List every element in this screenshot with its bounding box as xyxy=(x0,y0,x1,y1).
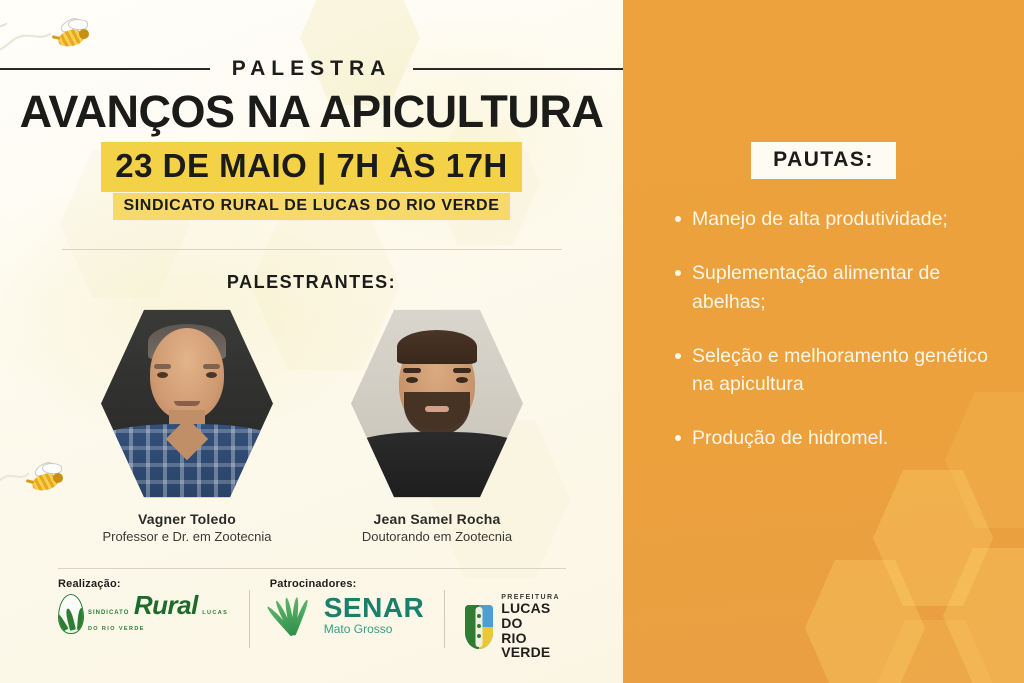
rural-leaf-mark-icon xyxy=(58,594,84,634)
organizer-group: Realização: SINDICATO Rural LUCAS DO RIO… xyxy=(58,578,229,656)
prefeitura-logo-line1: LUCAS DO xyxy=(501,601,566,630)
bee-icon-top xyxy=(48,18,96,52)
prefeitura-logo-line2: RIO VERDE xyxy=(501,631,566,660)
agenda-heading: PAUTAS: xyxy=(751,142,896,179)
credits-separator xyxy=(444,590,445,648)
sponsors-caption: Patrocinadores: xyxy=(270,578,425,590)
speaker-role: Doutorando em Zootecnia xyxy=(322,529,552,544)
bee-trail xyxy=(0,464,32,504)
agenda-list-item: Manejo de alta produtividade; xyxy=(675,205,1015,233)
speaker-card: Vagner Toledo Professor e Dr. em Zootecn… xyxy=(72,306,302,544)
speakers-heading: PALESTRANTES: xyxy=(0,272,623,293)
prefeitura-shield-icon xyxy=(465,605,493,649)
agenda-list-item: Suplementação alimentar de abelhas; xyxy=(675,259,1015,316)
senar-wheat-icon xyxy=(270,593,316,635)
prefeitura-logo: PREFEITURA LUCAS DO RIO VERDE xyxy=(465,594,566,660)
bullet-icon xyxy=(675,270,681,276)
senar-logo-sub-text: Mato Grosso xyxy=(324,623,425,635)
rural-logo-top-text: SINDICATO xyxy=(88,610,129,616)
agenda-heading-row: PAUTAS: xyxy=(623,142,1024,179)
sindicato-rural-logo: SINDICATO Rural LUCAS DO RIO VERDE xyxy=(58,593,229,634)
honeycomb-cell xyxy=(873,470,993,606)
honeycomb-cell xyxy=(943,548,1024,683)
speaker-photo-jean-samel-rocha xyxy=(351,306,523,501)
speaker-name: Jean Samel Rocha xyxy=(322,511,552,527)
venue-highlight: SINDICATO RURAL DE LUCAS DO RIO VERDE xyxy=(113,193,509,220)
sponsors-group: Patrocinadores: SENAR Mato Grosso xyxy=(270,578,425,656)
agenda-item-text: Produção de hidromel. xyxy=(692,424,1015,452)
bullet-icon xyxy=(675,435,681,441)
organizer-caption: Realização: xyxy=(58,578,229,590)
venue-row: SINDICATO RURAL DE LUCAS DO RIO VERDE xyxy=(0,193,623,220)
bee-flight-path xyxy=(0,10,14,50)
credits-strip: Realização: SINDICATO Rural LUCAS DO RIO… xyxy=(58,578,566,656)
date-time-highlight: 23 DE MAIO | 7H ÀS 17H xyxy=(101,142,522,192)
prefeitura-group: PREFEITURA LUCAS DO RIO VERDE xyxy=(465,578,566,656)
eyebrow-label: PALESTRA xyxy=(210,57,414,81)
eyebrow-rule-right xyxy=(413,68,623,70)
agenda-list-item: Seleção e melhoramento genético na apicu… xyxy=(675,342,1015,399)
date-time-row: 23 DE MAIO | 7H ÀS 17H xyxy=(0,142,623,192)
honeycomb-cell xyxy=(875,620,995,683)
divider-above-speakers xyxy=(62,249,562,250)
speaker-photo-vagner-toledo xyxy=(101,306,273,501)
bullet-icon xyxy=(675,216,681,222)
speaker-name: Vagner Toledo xyxy=(72,511,302,527)
agenda-panel: PAUTAS: Manejo de alta produtividade; Su… xyxy=(623,0,1024,683)
credits-separator xyxy=(249,590,250,648)
poster-canvas: PALESTRA AVANÇOS NA APICULTURA 23 DE MAI… xyxy=(0,0,1024,683)
rural-logo-main-text: Rural xyxy=(134,590,198,620)
speaker-role: Professor e Dr. em Zootecnia xyxy=(72,529,302,544)
agenda-list-item: Produção de hidromel. xyxy=(675,424,1015,452)
speakers-row: Vagner Toledo Professor e Dr. em Zootecn… xyxy=(62,306,562,544)
agenda-item-text: Suplementação alimentar de abelhas; xyxy=(692,259,1015,316)
senar-logo-main-text: SENAR xyxy=(324,594,425,622)
honeycomb-cell xyxy=(805,560,925,683)
agenda-list: Manejo de alta produtividade; Suplementa… xyxy=(675,205,1015,479)
agenda-item-text: Seleção e melhoramento genético na apicu… xyxy=(692,342,1015,399)
eyebrow-rule-left xyxy=(0,68,210,70)
senar-logo: SENAR Mato Grosso xyxy=(270,593,425,635)
left-content-panel: PALESTRA AVANÇOS NA APICULTURA 23 DE MAI… xyxy=(0,0,623,683)
bullet-icon xyxy=(675,353,681,359)
agenda-item-text: Manejo de alta produtividade; xyxy=(692,205,1015,233)
speaker-card: Jean Samel Rocha Doutorando em Zootecnia xyxy=(322,306,552,544)
eyebrow-row: PALESTRA xyxy=(0,56,623,82)
poster-title: AVANÇOS NA APICULTURA xyxy=(0,86,623,138)
divider-above-logos xyxy=(58,568,566,569)
